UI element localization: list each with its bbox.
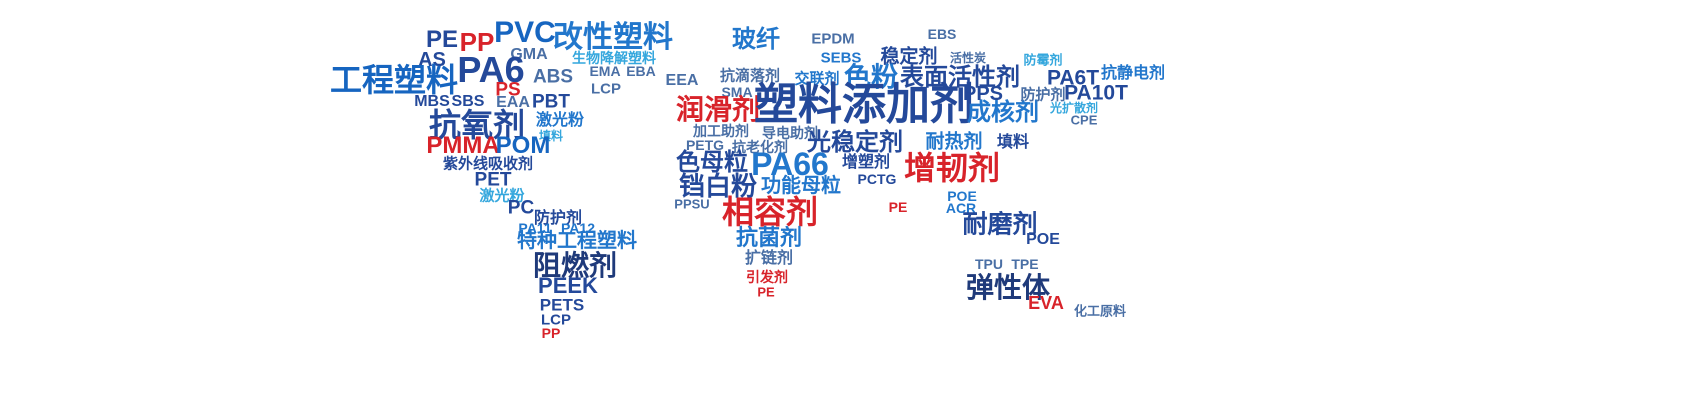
word-cloud-term[interactable]: 耐热剂 <box>925 133 982 152</box>
word-cloud-term[interactable]: PC <box>508 199 534 218</box>
word-cloud-term[interactable]: 特种工程塑料 <box>517 231 637 251</box>
word-cloud-term[interactable]: POE <box>1026 232 1060 248</box>
word-cloud-term[interactable]: 扩链剂 <box>745 251 793 267</box>
word-cloud-term[interactable]: PEEK <box>538 275 598 297</box>
word-cloud-term[interactable]: TPU <box>975 257 1003 271</box>
word-cloud-term[interactable]: PBT <box>532 93 570 112</box>
word-cloud-term[interactable]: PE <box>889 200 908 214</box>
word-cloud-term[interactable]: PPSU <box>674 198 709 211</box>
word-cloud-term[interactable]: EBS <box>928 27 957 41</box>
word-cloud-term[interactable]: 功能母粒 <box>761 176 841 196</box>
word-cloud-term[interactable]: EEA <box>666 73 699 89</box>
word-cloud-term[interactable]: 润滑剂 <box>676 96 760 124</box>
word-cloud-term[interactable]: EMA <box>589 64 620 78</box>
word-cloud-term[interactable]: TPE <box>1011 257 1038 271</box>
word-cloud-term[interactable]: EVA <box>1028 294 1064 312</box>
word-cloud-term[interactable]: PPS <box>963 84 1003 104</box>
word-cloud-term[interactable]: 引发剂 <box>746 270 788 284</box>
word-cloud-term[interactable]: 增塑剂 <box>842 155 890 171</box>
word-cloud-term[interactable]: 相容剂 <box>722 196 818 228</box>
word-cloud-term[interactable]: EPDM <box>811 32 854 47</box>
word-cloud-canvas: PEPPPVCGMA改性塑料生物降解塑料玻纤EPDMEBSASPA6ABSEMA… <box>0 0 1707 400</box>
word-cloud-term[interactable]: POM <box>496 134 551 158</box>
word-cloud-term[interactable]: 塑料添加剂 <box>754 83 974 127</box>
word-cloud-term[interactable]: 填料 <box>997 135 1029 151</box>
word-cloud-term[interactable]: CPE <box>1071 114 1098 127</box>
word-cloud-term[interactable]: 工程塑料 <box>330 64 458 96</box>
word-cloud-term[interactable]: PCTG <box>858 172 897 186</box>
word-cloud-term[interactable]: 玻纤 <box>732 28 780 52</box>
word-cloud-term[interactable]: 化工原料 <box>1074 305 1126 318</box>
word-cloud-term[interactable]: ABS <box>533 68 573 87</box>
word-cloud-term[interactable]: 改性塑料 <box>553 23 673 53</box>
word-cloud-term[interactable]: 激光粉 <box>536 113 584 129</box>
word-cloud-term[interactable]: 增韧剂 <box>904 152 1000 184</box>
word-cloud-term[interactable]: EBA <box>626 64 656 78</box>
word-cloud-term[interactable]: 加工助剂 <box>693 124 749 138</box>
word-cloud-term[interactable]: 防霉剂 <box>1023 54 1062 67</box>
word-cloud-term[interactable]: PMMA <box>426 134 499 158</box>
word-cloud-term[interactable]: PVC <box>494 18 556 48</box>
word-cloud-term[interactable]: 抗菌剂 <box>736 227 802 249</box>
word-cloud-term[interactable]: 抗静电剂 <box>1101 66 1165 82</box>
word-cloud-term[interactable]: PE <box>757 286 774 299</box>
word-cloud-term[interactable]: PP <box>542 326 561 340</box>
word-cloud-term[interactable]: LCP <box>591 82 621 97</box>
word-cloud-term[interactable]: 活性炭 <box>950 52 986 64</box>
